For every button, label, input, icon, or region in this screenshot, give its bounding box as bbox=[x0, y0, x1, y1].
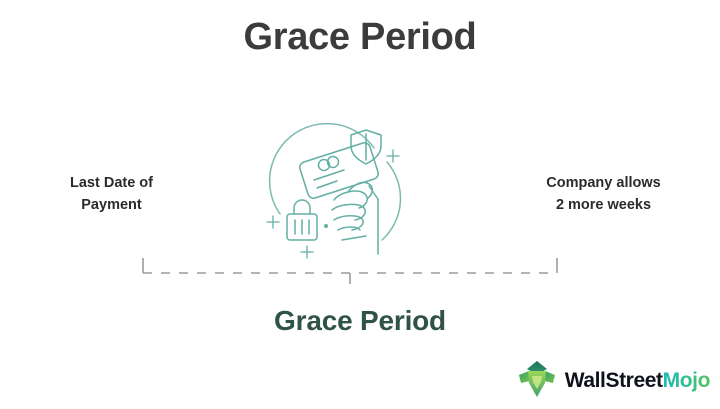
bull-logo-icon bbox=[516, 359, 558, 401]
left-label: Last Date of Payment bbox=[14, 172, 209, 217]
sparkle-top-right-icon bbox=[387, 150, 399, 162]
right-label-line2: 2 more weeks bbox=[501, 194, 706, 216]
page-title: Grace Period bbox=[0, 16, 720, 59]
logo-text-accent: Mojo bbox=[663, 369, 710, 392]
dot-icon bbox=[324, 224, 328, 228]
sparkle-left-icon bbox=[267, 216, 279, 228]
left-label-line1: Last Date of bbox=[14, 172, 209, 194]
hand-icon bbox=[332, 182, 378, 254]
grace-period-infographic: Grace Period Last Date of Payment Compan… bbox=[0, 0, 720, 409]
caption: Grace Period bbox=[0, 305, 720, 337]
right-label: Company allows 2 more weeks bbox=[501, 172, 706, 217]
logo-wordmark: WallStreetMojo bbox=[565, 370, 710, 391]
wallstreetmojo-logo[interactable]: WallStreetMojo bbox=[516, 359, 710, 401]
right-label-line1: Company allows bbox=[501, 172, 706, 194]
logo-text-primary: WallStreet bbox=[565, 369, 663, 392]
left-label-line2: Payment bbox=[14, 194, 209, 216]
hand-holding-credit-card-illustration bbox=[262, 122, 432, 262]
padlock-icon bbox=[287, 200, 317, 240]
shield-icon bbox=[351, 130, 381, 164]
grace-period-span-bracket bbox=[135, 252, 565, 288]
